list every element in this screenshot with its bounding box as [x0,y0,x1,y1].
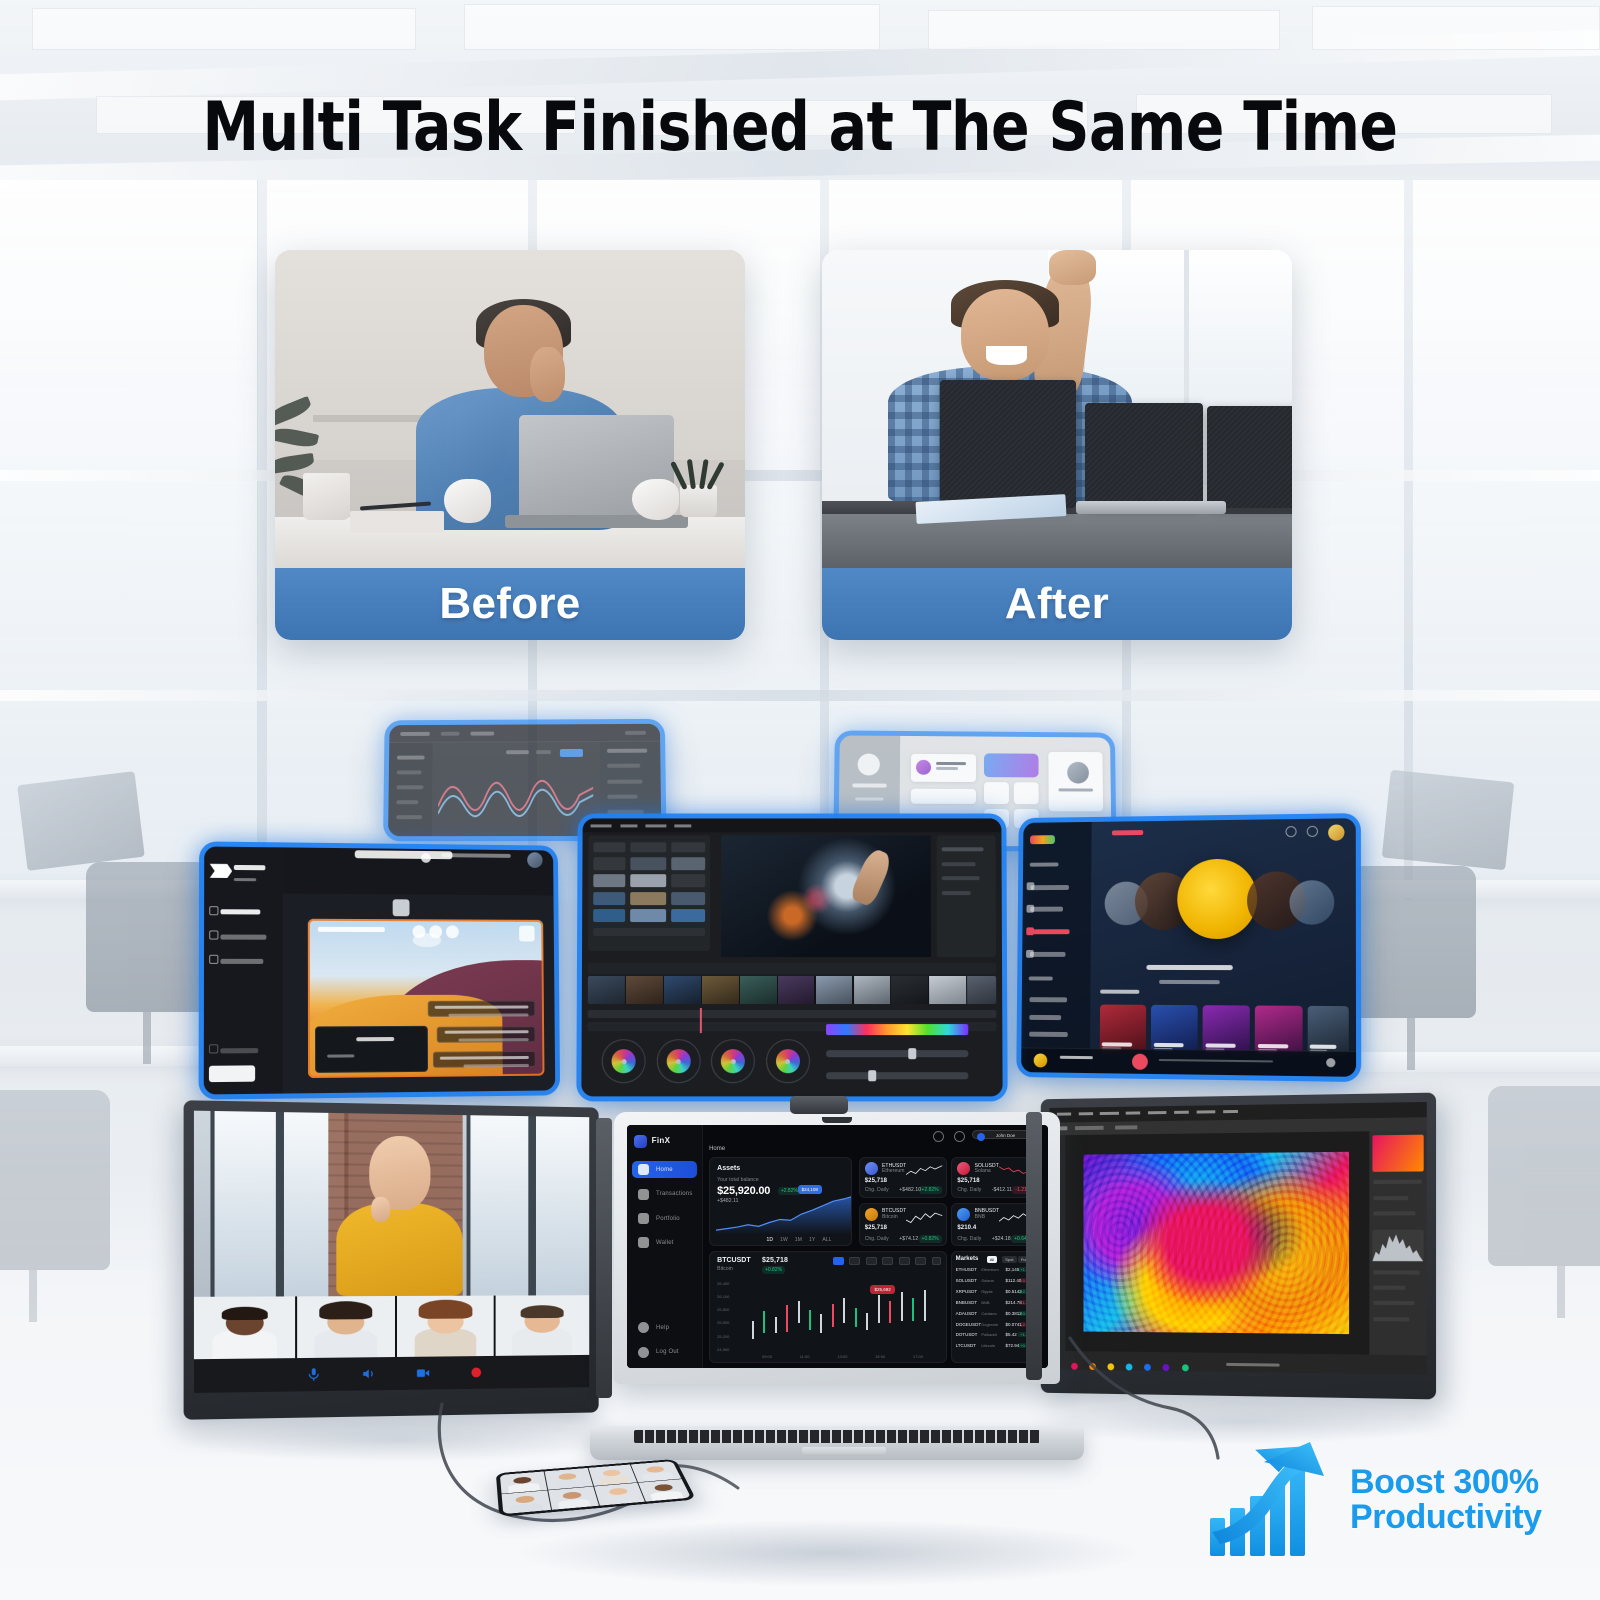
before-photo [275,250,745,568]
btc-icon [865,1208,878,1221]
chart-name: Bitcoin [717,1266,733,1272]
price-chart-card[interactable]: BTCUSDT Bitcoin $25,718 +0.82% 26,400 26… [709,1251,947,1363]
eth-icon [865,1162,878,1175]
timeframe-1y[interactable] [915,1257,926,1265]
artwork-ripples [1083,1152,1349,1335]
y-axis-label: 25,200 [717,1334,729,1339]
ticker-chg: +$74.12 [899,1236,918,1242]
ticker-pct: +2.82% [919,1186,942,1194]
bnb-icon [957,1208,970,1221]
boost-productivity-badge: Boost 300% Productivity [1206,1434,1570,1566]
canvas-area[interactable] [1066,1131,1368,1355]
y-axis-label: 25,800 [717,1307,729,1312]
hand-on-face [530,347,565,402]
transactions-icon [638,1189,649,1200]
phone-tile[interactable] [502,1490,551,1514]
chart-price: $25,718 [762,1257,788,1264]
x-axis-label: 17:00 [913,1354,923,1359]
x-axis-label: 11:00 [800,1354,810,1359]
y-axis-label: 25,500 [717,1320,729,1325]
chart-pair: BTCUSDT [717,1257,750,1264]
sidebar-item-wallet[interactable]: Wallet [632,1234,696,1251]
sidebar-item-logout[interactable]: Log Out [632,1344,696,1361]
range-tab[interactable]: 1W [780,1237,788,1243]
growth-bar-chart-arrow-icon [1206,1440,1336,1560]
participant-tile[interactable] [397,1296,495,1357]
before-label-bar: Before [275,568,745,640]
y-axis-label: 24,900 [717,1347,729,1352]
logout-icon [638,1347,649,1358]
markets-title: Markets [956,1256,979,1262]
ticker-name: Ethereum [882,1168,904,1174]
active-speaker-view[interactable] [194,1111,589,1297]
timeframe-1w[interactable] [882,1257,893,1265]
ticker-price: $25,718 [957,1178,979,1184]
yellow-top [336,1203,462,1297]
sol-icon [957,1162,970,1175]
x-axis-label: 13:00 [837,1354,847,1359]
speaker-icon[interactable] [360,1366,377,1381]
assets-card[interactable]: Assets Your total balance $25,920.00 +2.… [709,1157,852,1247]
y-axis-label: 26,400 [717,1281,729,1286]
main-monitor [940,380,1076,507]
call-controls[interactable] [194,1355,589,1393]
sparkline [906,1210,942,1225]
phone-tile[interactable] [548,1486,598,1510]
ticker-chg-label: Chg. Daily [957,1187,981,1193]
avatar [977,1133,985,1141]
ticker-price: $25,718 [865,1178,887,1184]
triple-monitor-rig: FinX Home Transactions Portfolio [0,0,1600,1600]
side-monitor [1207,406,1292,508]
ticker-price: $210.4 [957,1225,976,1231]
camera-icon[interactable] [415,1366,432,1381]
desk-surface [822,514,1292,568]
bell-icon[interactable] [954,1131,965,1142]
ticker-chg-label: Chg. Daily [865,1236,889,1242]
page-title: Multi Task Finished at The Same Time [56,88,1544,167]
timeframe-4h[interactable] [849,1257,860,1265]
before-card: Before [275,250,745,640]
video-conference-app[interactable] [194,1111,589,1393]
laptop-base [1076,501,1226,514]
badge-line-2: Productivity [1350,1500,1542,1535]
balance-label: Your total balance [717,1177,759,1183]
left-hinge [596,1118,612,1398]
monitor-cable [1018,1330,1238,1480]
ticker-name: BNB [975,1214,986,1220]
ticker-card[interactable]: ETHUSDT Ethereum $25,718 Chg. Daily +$48… [859,1157,947,1198]
side-monitor [1085,403,1203,508]
ticker-name: Bitcoin [882,1214,898,1220]
ticker-chg: -$412.11 [992,1187,1012,1193]
portfolio-icon [638,1213,649,1224]
artwork-canvas[interactable] [1083,1152,1349,1335]
histogram-panel[interactable] [1373,1230,1424,1261]
participant-tile[interactable] [194,1297,297,1360]
after-card: After [822,250,1292,640]
market-row[interactable]: BNBUSDT BNB $214.78 -1.22% [956,1300,1036,1307]
range-tabs[interactable]: 1D 1W 1M 1Y ALL [767,1237,832,1243]
market-row[interactable]: DOGEUSDT Dogecoin $0.0741 -2.04% [956,1322,1036,1329]
breadcrumb: Home [709,1146,725,1152]
balance-area-chart [716,1189,852,1235]
after-photo [822,250,1292,568]
sidebar-item-home[interactable]: Home [632,1161,696,1178]
after-room [822,250,1292,568]
left-monitor[interactable] [184,1100,599,1419]
phone-tile[interactable] [638,1479,691,1502]
ticker-name: Solana [975,1168,991,1174]
active-speaker [336,1135,462,1296]
account-label: John Doe [996,1133,1015,1138]
plant-right [670,447,726,517]
market-row[interactable]: ADAUSDT Cardano $0.3812 +0.58% [956,1311,1036,1318]
finx-logo-icon [634,1135,647,1148]
before-label: Before [439,579,580,629]
brand-name: FinX [652,1136,671,1145]
phone-tile[interactable] [594,1483,646,1506]
sparkline [906,1164,942,1177]
markets-tab-spot[interactable]: Spot [1002,1256,1016,1263]
ticker-chg-label: Chg. Daily [957,1236,981,1242]
dashboard-sidebar[interactable]: FinX Home Transactions Portfolio [627,1125,703,1368]
market-row[interactable]: XRPUSDT Ripple $0.5142 +2.41% [956,1289,1036,1296]
help-icon [638,1322,649,1333]
coffee-mug [303,473,350,521]
webcam [822,1117,852,1123]
home-icon [638,1164,649,1175]
participant-tile[interactable] [495,1295,589,1355]
assets-title: Assets [717,1165,740,1172]
markets-tab-all[interactable]: All [987,1256,997,1263]
ticker-price: $25,718 [865,1225,887,1231]
chart-pct: +0.82% [762,1266,785,1274]
timeframe-all[interactable] [932,1257,941,1265]
y-axis-label: 26,100 [717,1294,729,1299]
notebook [350,511,444,533]
market-row[interactable]: SOLUSDT Solana $112.40 -0.94% [956,1278,1036,1285]
candlestick-chart [748,1277,939,1349]
finx-dashboard[interactable]: FinX Home Transactions Portfolio [627,1125,1048,1368]
ticker-card[interactable]: BTCUSDT Bitcoin $25,718 Chg. Daily +$74.… [859,1203,947,1247]
sidebar-item-transactions[interactable]: Transactions [632,1186,696,1203]
sidebar-item-help[interactable]: Help [632,1319,696,1336]
after-label-bar: After [822,568,1292,640]
ticker-chg: +$24.18 [992,1236,1011,1242]
timeframe-1d[interactable] [866,1257,877,1265]
range-tab[interactable]: 1Y [809,1237,815,1243]
after-label: After [1005,579,1109,629]
participant-strip[interactable] [194,1295,589,1359]
editor-panels[interactable] [1368,1131,1427,1356]
arm [445,402,507,480]
range-tab[interactable]: 1D [767,1237,774,1243]
price-marker: $25,692 [870,1285,894,1294]
laptop-lid: FinX Home Transactions Portfolio [614,1112,1060,1384]
smile [986,346,1028,364]
pot [680,485,717,517]
head [961,289,1049,381]
trackpad[interactable] [802,1447,886,1454]
x-axis-label: 15:00 [875,1354,885,1359]
ticker-pct: +0.82% [919,1235,942,1243]
fist [1049,250,1095,284]
timeframe-1h[interactable] [833,1257,844,1265]
before-room [275,250,745,568]
participant-tile[interactable] [297,1296,397,1358]
microphone-icon[interactable] [305,1367,322,1382]
ticker-chg-label: Chg. Daily [865,1187,889,1193]
color-panel[interactable] [1373,1135,1424,1171]
badge-line-1: Boost 300% [1350,1465,1542,1500]
crumpled-paper [444,479,491,524]
wallet-icon [638,1237,649,1248]
sidebar-item-portfolio[interactable]: Portfolio [632,1210,696,1227]
record-icon[interactable] [468,1365,484,1380]
badge-text: Boost 300% Productivity [1350,1465,1542,1536]
timeframe-1m[interactable] [899,1257,910,1265]
search-icon[interactable] [933,1131,944,1142]
dashboard-topbar[interactable]: John Doe [703,1125,1048,1144]
ticker-chg: +$482.10 [899,1187,921,1193]
range-tab[interactable]: ALL [822,1237,831,1243]
x-axis-label: 09:00 [762,1354,772,1359]
hand [371,1197,390,1223]
top-mount [790,1096,848,1114]
market-row[interactable]: ETHUSDT Ethereum $2,145 +1.82% [956,1267,1036,1274]
range-tab[interactable]: 1M [795,1237,802,1243]
